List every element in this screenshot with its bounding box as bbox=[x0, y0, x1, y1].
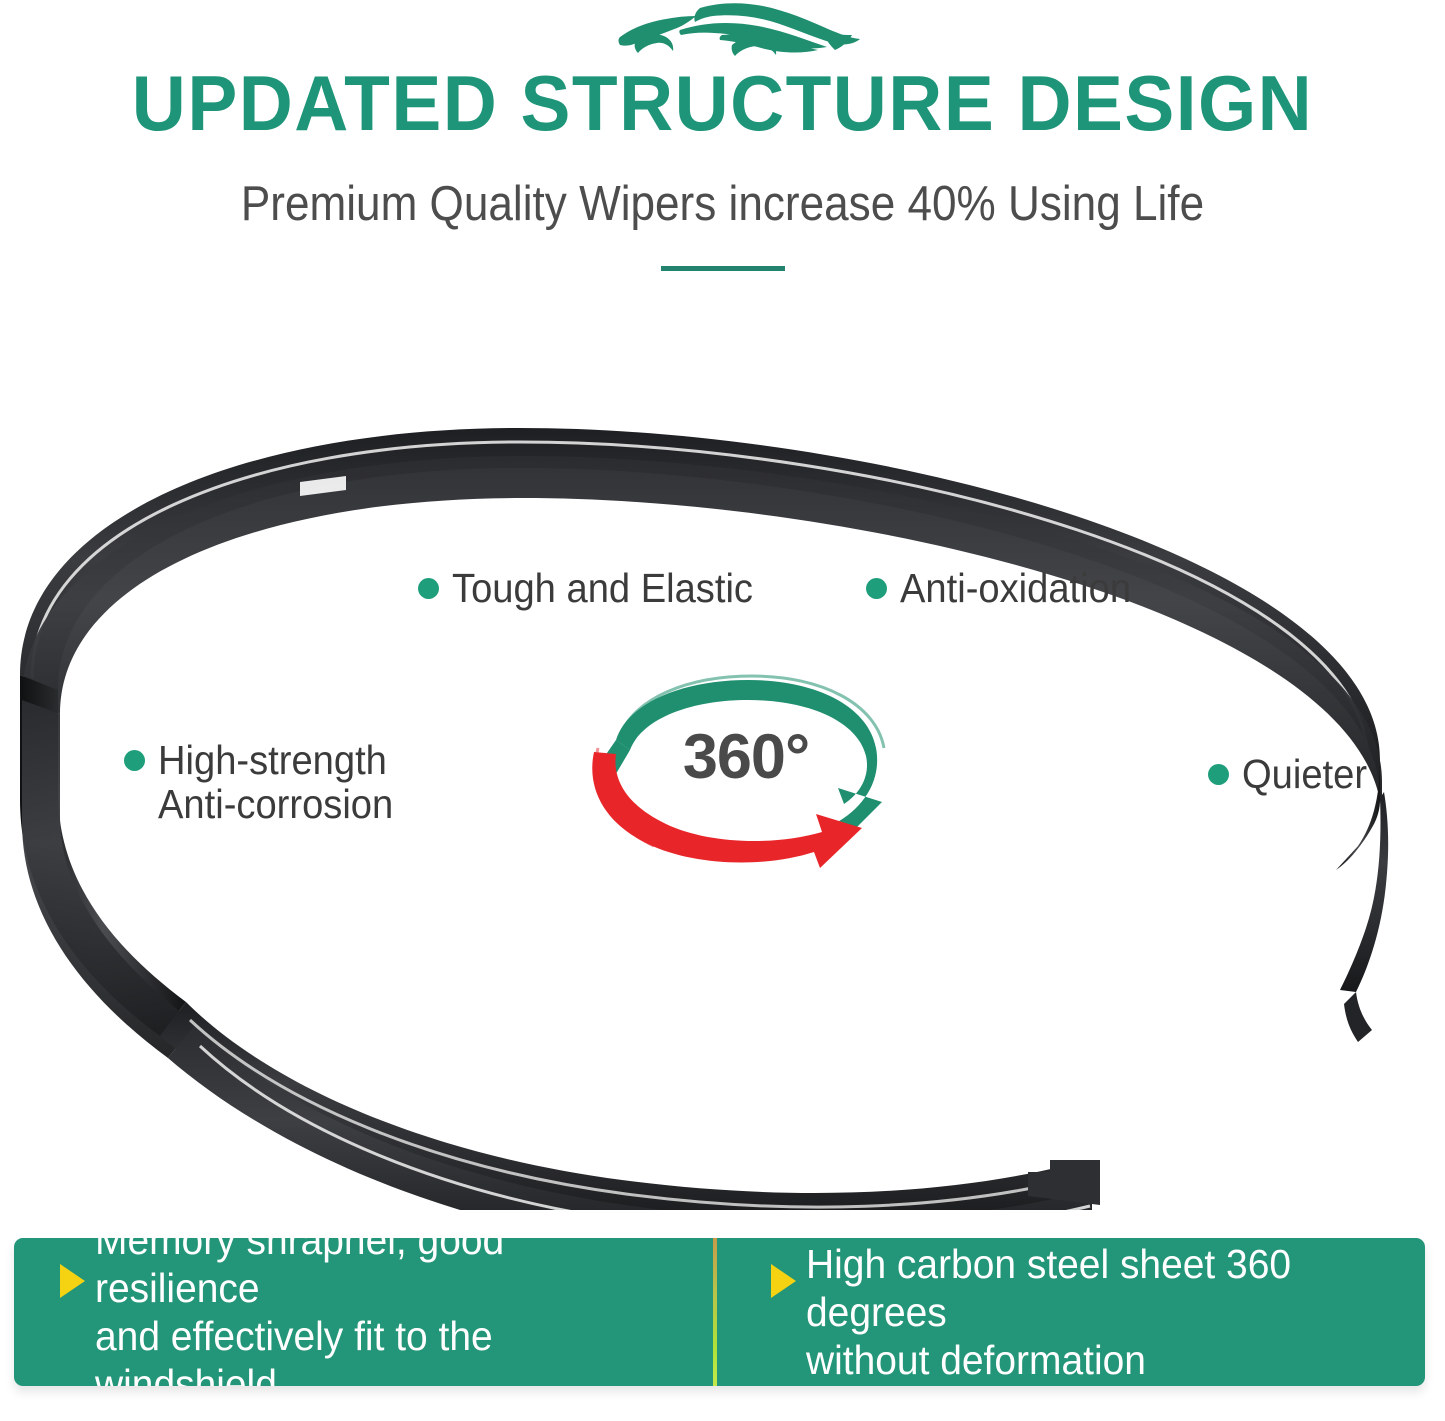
bullet-dot-icon bbox=[1208, 764, 1229, 785]
feature-quieter: Quieter bbox=[1208, 752, 1376, 796]
banner-item-text: Memory shrapnel, good resilience and eff… bbox=[95, 1238, 659, 1386]
banner-item-text: High carbon steel sheet 360 degrees with… bbox=[806, 1240, 1371, 1384]
bullet-dot-icon bbox=[418, 578, 439, 599]
page-title: UPDATED STRUCTURE DESIGN bbox=[29, 62, 1416, 144]
car-silhouette-icon bbox=[592, 2, 872, 58]
bullet-dot-icon bbox=[124, 750, 145, 771]
badge-360-label: 360° bbox=[576, 724, 916, 790]
feature-label: Quieter bbox=[1242, 752, 1367, 796]
bullet-dot-icon bbox=[866, 578, 887, 599]
page-subtitle: Premium Quality Wipers increase 40% Usin… bbox=[72, 176, 1373, 232]
title-divider bbox=[661, 266, 785, 271]
feature-label: Anti-oxidation bbox=[900, 566, 1131, 610]
feature-anti-oxidation: Anti-oxidation bbox=[866, 566, 1148, 610]
triangle-right-icon bbox=[60, 1264, 85, 1298]
banner-item-memory-shrapnel: Memory shrapnel, good resilience and eff… bbox=[14, 1238, 713, 1386]
triangle-right-icon bbox=[771, 1264, 796, 1298]
feature-label: High-strength Anti-corrosion bbox=[158, 738, 393, 826]
banner-item-high-carbon-steel: High carbon steel sheet 360 degrees with… bbox=[713, 1238, 1425, 1386]
feature-tough-and-elastic: Tough and Elastic bbox=[418, 566, 776, 610]
feature-high-strength-anti-corrosion: High-strength Anti-corrosion bbox=[124, 738, 411, 826]
badge-360-degrees: 360° bbox=[576, 662, 916, 874]
bottom-banner: Memory shrapnel, good resilience and eff… bbox=[14, 1238, 1425, 1386]
infographic-page: UPDATED STRUCTURE DESIGN Premium Quality… bbox=[0, 0, 1445, 1421]
feature-label: Tough and Elastic bbox=[452, 566, 753, 610]
